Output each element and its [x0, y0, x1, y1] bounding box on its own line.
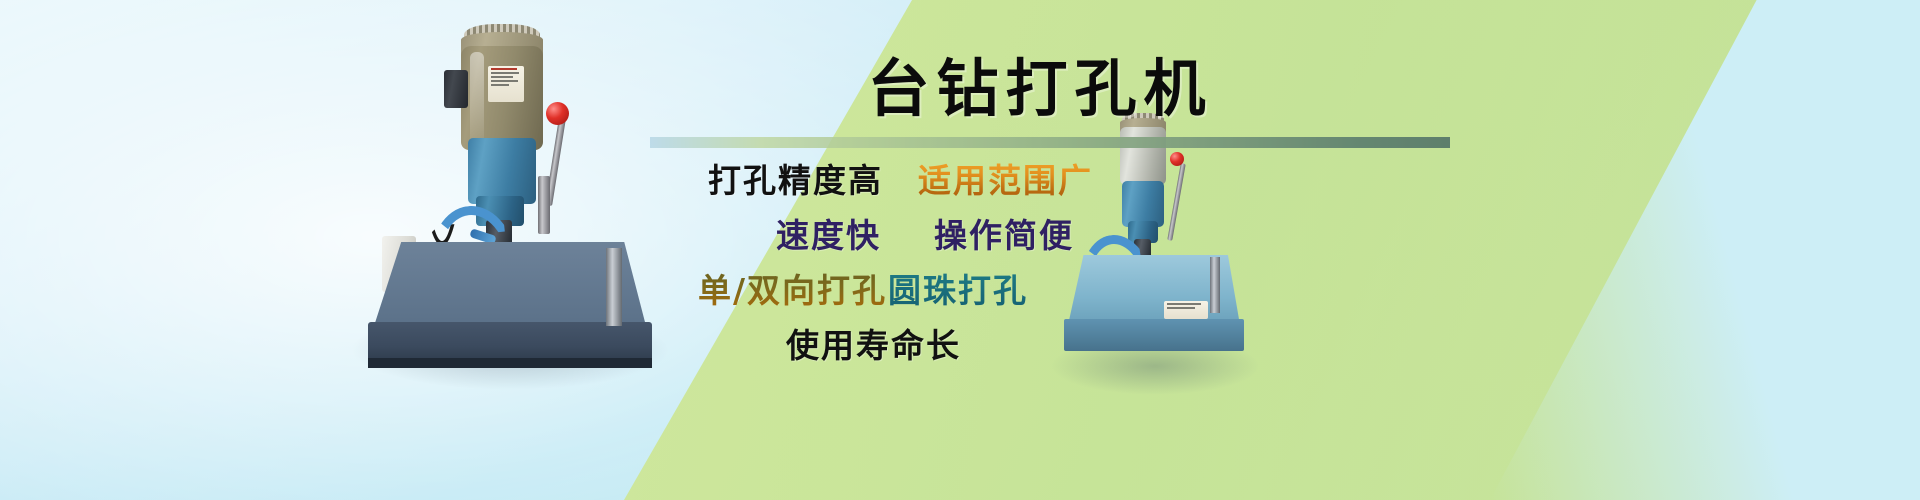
base-plate-edge [368, 358, 652, 368]
product-image-left [360, 10, 660, 380]
feature-row-1: 打孔精度高 适用范围广 [660, 160, 1400, 215]
feature-item-long-lifespan: 使用寿命长 [786, 325, 961, 367]
banner-text-content: 台钻打孔机 打孔精度高 适用范围广 速度快 操作简便 单/双向打孔 圆珠打孔 使… [660, 0, 1400, 500]
feature-item-fast-speed: 速度快 [776, 215, 881, 257]
feature-row-2: 速度快 操作简便 [660, 215, 1400, 270]
motor-highlight [470, 52, 484, 144]
column-post [606, 248, 622, 326]
feature-item-bead-drilling: 圆珠打孔 [888, 270, 1028, 312]
feed-lever-knob [546, 102, 569, 125]
feature-item-drilling-precision: 打孔精度高 [708, 160, 883, 202]
product-banner: 台钻打孔机 打孔精度高 适用范围广 速度快 操作简便 单/双向打孔 圆珠打孔 使… [0, 0, 1920, 500]
page-title: 台钻打孔机 [760, 38, 1320, 128]
motor-spec-label [488, 66, 524, 102]
feature-item-single-double-drilling: 单/双向打孔 [698, 270, 887, 312]
feature-row-4: 使用寿命长 [660, 325, 1400, 380]
feature-item-wide-application: 适用范围广 [918, 160, 1093, 202]
spindle-housing [468, 138, 536, 204]
feature-item-easy-operation: 操作简便 [934, 215, 1074, 257]
feature-list: 打孔精度高 适用范围广 速度快 操作简便 单/双向打孔 圆珠打孔 使用寿命长 [660, 160, 1400, 380]
feature-row-3: 单/双向打孔 圆珠打孔 [660, 270, 1400, 325]
title-divider [650, 137, 1450, 148]
